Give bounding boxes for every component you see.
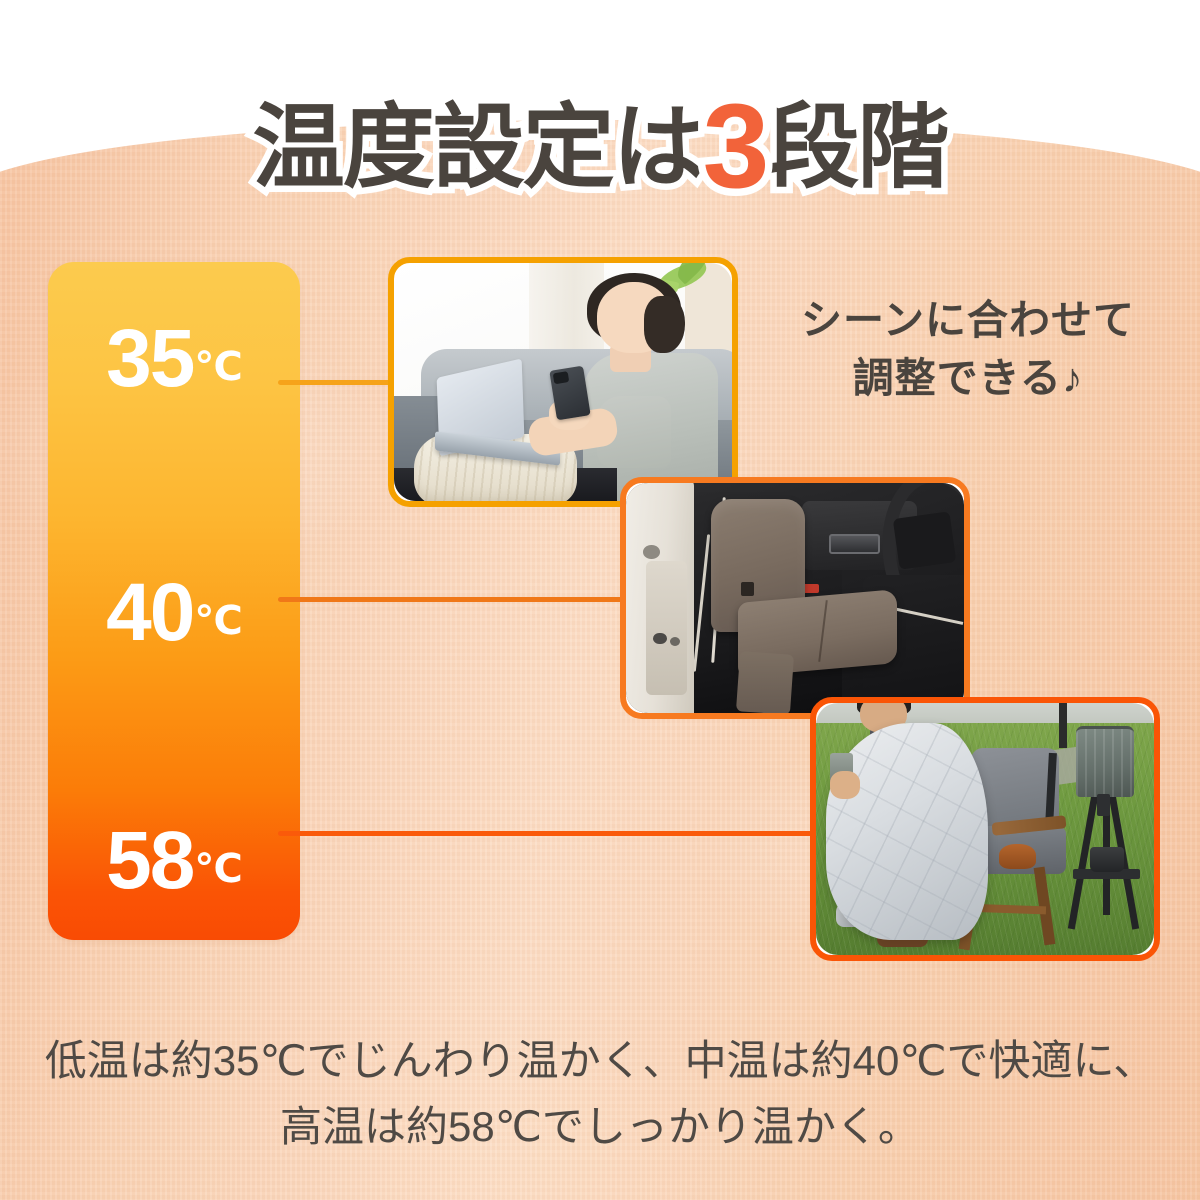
title-part-2: 段階 bbox=[767, 97, 947, 199]
photo-home-sofa-inner bbox=[394, 263, 732, 501]
camping-kettle bbox=[1090, 847, 1124, 872]
photo-car-seat-inner bbox=[626, 483, 964, 713]
bottom-caption: 低温は約35℃でじんわり温かく、中温は約40℃で快適に、 高温は約58℃でしっか… bbox=[0, 1028, 1200, 1161]
side-caption: シーンに合わせて 調整できる♪ bbox=[768, 291, 1168, 407]
side-caption-line-2: 調整できる♪ bbox=[768, 349, 1168, 407]
temperature-level-40: 40℃ bbox=[48, 572, 300, 654]
water-dispenser-tap bbox=[1097, 794, 1111, 817]
connector-line-35 bbox=[278, 380, 404, 385]
bottom-caption-line-1: 低温は約35℃でじんわり温かく、中温は約40℃で快適に、 bbox=[0, 1028, 1200, 1094]
heated-cushion-flap bbox=[736, 651, 794, 713]
car-air-vent bbox=[829, 534, 880, 554]
temperature-unit-35: ℃ bbox=[194, 345, 241, 389]
temperature-gradient-bar: 35℃ 40℃ 58℃ bbox=[48, 262, 300, 940]
car-door-hinge bbox=[643, 545, 660, 559]
temperature-value-35: 35 bbox=[106, 313, 193, 404]
camper-hand bbox=[830, 771, 860, 799]
temperature-level-58: 58℃ bbox=[48, 820, 300, 902]
connector-line-40 bbox=[278, 597, 638, 602]
photo-car-seat-scene bbox=[620, 477, 970, 719]
woman-hair-side bbox=[644, 296, 685, 353]
bottom-caption-line-2: 高温は約58℃でしっかり温かく。 bbox=[0, 1094, 1200, 1160]
photo-outdoor-camping-scene bbox=[810, 697, 1160, 961]
temperature-unit-40: ℃ bbox=[194, 599, 241, 643]
page-title: 温度設定は3段階 bbox=[0, 78, 1200, 198]
connector-line-58 bbox=[278, 831, 828, 836]
car-door-panel bbox=[646, 561, 687, 694]
smartphone-camera bbox=[552, 371, 569, 384]
water-dispenser-texture bbox=[1076, 729, 1133, 797]
temperature-level-35: 35℃ bbox=[48, 318, 300, 400]
camping-pole bbox=[1059, 703, 1067, 748]
temperature-value-58: 58 bbox=[106, 815, 193, 906]
photo-home-sofa-scene bbox=[388, 257, 738, 507]
car-door-latch bbox=[653, 633, 667, 645]
temperature-value-40: 40 bbox=[106, 567, 193, 658]
water-dispenser bbox=[1076, 726, 1133, 797]
side-caption-line-1: シーンに合わせて bbox=[768, 291, 1168, 349]
steering-wheel-hub bbox=[893, 511, 957, 569]
temperature-unit-58: ℃ bbox=[194, 847, 241, 891]
title-accent-number: 3 bbox=[703, 79, 768, 213]
cushion-controller bbox=[741, 582, 755, 596]
infographic-page: 温度設定は3段階 35℃ 40℃ 58℃ bbox=[0, 0, 1200, 1200]
photo-outdoor-camping-inner bbox=[816, 703, 1154, 955]
camping-copper-pot bbox=[999, 844, 1036, 869]
title-part-1: 温度設定は bbox=[253, 97, 703, 199]
